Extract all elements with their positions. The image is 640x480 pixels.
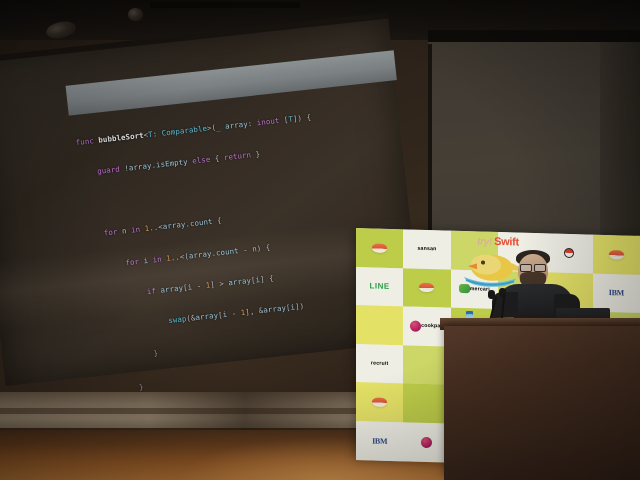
sponsor-tile (356, 305, 403, 345)
event-title-prefix: try! (477, 236, 492, 247)
ball-logo-icon (410, 320, 421, 331)
sponsor-tile (356, 228, 403, 268)
conference-photo-scene: func bubbleSort<T: Comparable>(_ array: … (0, 0, 640, 480)
sponsor-name: sansan (417, 246, 436, 253)
sponsor-tile (403, 268, 450, 308)
sushi-icon (419, 283, 434, 292)
sponsor-name: IBM (372, 436, 387, 445)
sponsor-name: IBM (609, 288, 624, 297)
podium: hirao school (444, 326, 640, 480)
code-function-name: bubbleSort (98, 131, 144, 145)
code-keyword: func (75, 136, 94, 147)
sushi-icon (609, 250, 624, 259)
ceiling-beam (150, 2, 300, 8)
sponsor-name: LINE (370, 282, 390, 292)
sponsor-tile (356, 382, 403, 422)
ceiling-light-icon (45, 19, 78, 41)
sponsor-tile: recruit (356, 344, 403, 384)
eyeglasses-icon (520, 264, 546, 270)
ceiling-light-icon (128, 8, 143, 21)
sponsor-tile: IBM (356, 421, 403, 461)
sponsor-tile (593, 235, 640, 275)
sponsor-tile: LINE (356, 267, 403, 307)
ball-logo-icon (421, 437, 432, 448)
event-title-name: Swift (494, 236, 519, 249)
sushi-icon (372, 243, 387, 252)
sushi-icon (372, 398, 387, 407)
sponsor-name: recruit (371, 360, 389, 366)
